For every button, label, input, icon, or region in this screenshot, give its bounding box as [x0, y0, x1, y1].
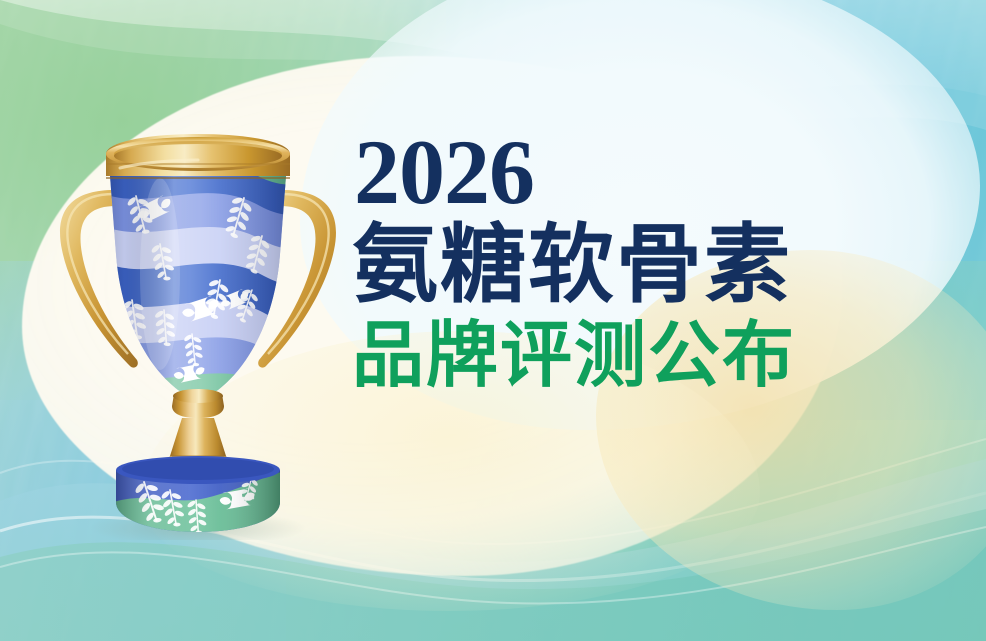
headline-block: 2026 氨糖软骨素 品牌评测公布 — [352, 128, 912, 393]
promo-poster: 2026 氨糖软骨素 品牌评测公布 — [0, 0, 986, 641]
headline-sub: 品牌评测公布 — [352, 318, 912, 393]
trophy-rim — [106, 134, 290, 178]
trophy-illustration — [48, 104, 348, 540]
headline-main: 氨糖软骨素 — [352, 222, 912, 310]
headline-year: 2026 — [354, 128, 912, 216]
